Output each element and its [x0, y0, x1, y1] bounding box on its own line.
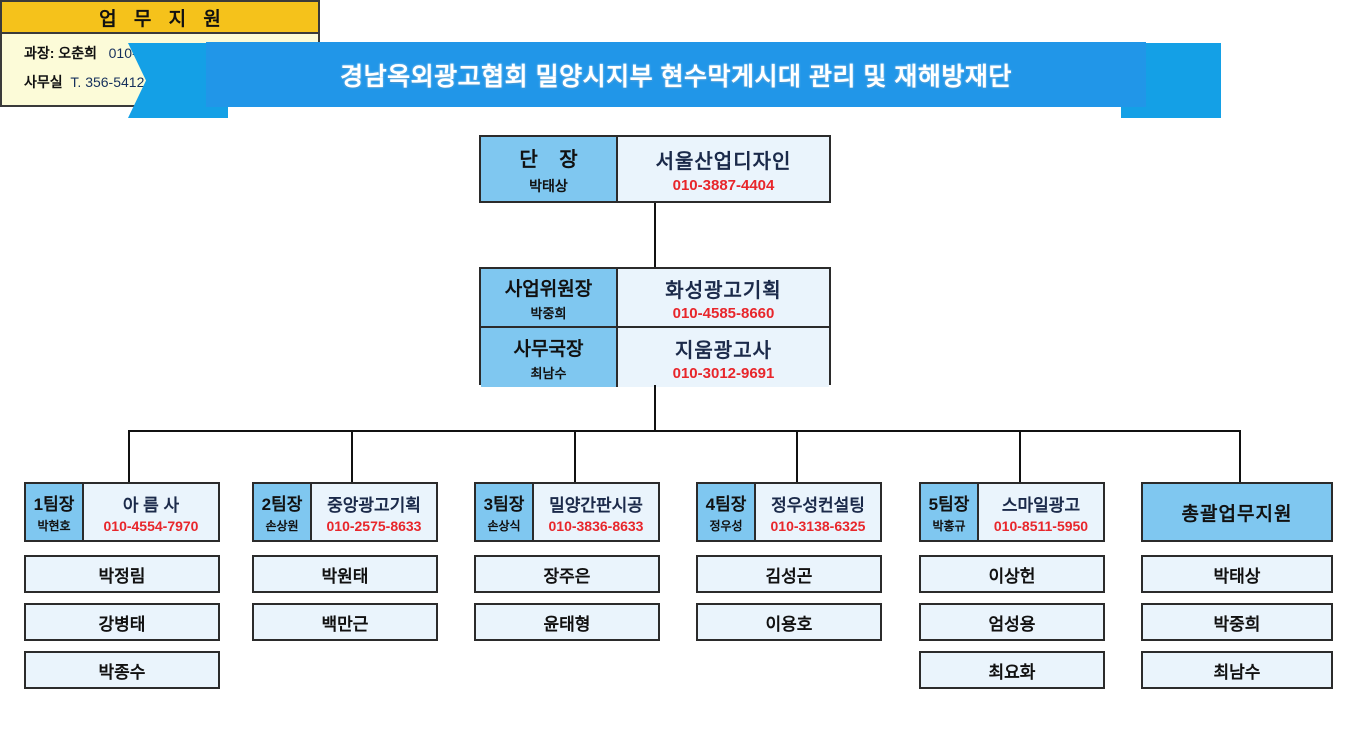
- team-1-member[interactable]: 박종수: [24, 651, 220, 689]
- connector-director-to-committee: [654, 203, 656, 267]
- total-support-member-label: 최남수: [1214, 658, 1261, 683]
- node-team-5[interactable]: 5팀장 박홍규 스마일광고 010-8511-5950: [919, 482, 1105, 542]
- connector-drop-team-5: [1019, 430, 1021, 482]
- team-1-member-label: 강병태: [99, 610, 146, 635]
- team-2-member[interactable]: 백만근: [252, 603, 438, 641]
- director-org-cell: 서울산업디자인 010-3887-4404: [618, 137, 829, 201]
- director-tel: 010-3887-4404: [673, 177, 775, 194]
- team-4-org: 정우성컨설팅: [771, 491, 865, 516]
- node-team-4[interactable]: 4팀장 정우성 정우성컨설팅 010-3138-6325: [696, 482, 882, 542]
- team-3-member-label: 윤태형: [544, 610, 591, 635]
- team-1-member[interactable]: 박정림: [24, 555, 220, 593]
- connector-drop-team-3: [574, 430, 576, 482]
- team-1-member[interactable]: 강병태: [24, 603, 220, 641]
- team-5-tel: 010-8511-5950: [994, 518, 1088, 534]
- director-person: 박태상: [529, 176, 568, 196]
- team-1-role: 1팀장: [34, 490, 75, 515]
- team-2-org-cell: 중앙광고기획 010-2575-8633: [312, 484, 436, 540]
- chair-person: 박중희: [531, 303, 567, 322]
- team-2-member-label: 백만근: [322, 610, 369, 635]
- team-5-role: 5팀장: [929, 490, 970, 515]
- team-3-person: 손상식: [487, 517, 520, 534]
- team-5-member-label: 이상헌: [989, 562, 1036, 587]
- team-5-org-cell: 스마일광고 010-8511-5950: [979, 484, 1103, 540]
- total-support-member[interactable]: 박태상: [1141, 555, 1333, 593]
- team-3-role: 3팀장: [484, 490, 525, 515]
- team-2-role: 2팀장: [262, 490, 303, 515]
- team-3-org: 밀양간판시공: [549, 491, 643, 516]
- support-manager-label: 과장: 오춘희: [24, 45, 97, 61]
- director-role: 단 장: [511, 143, 585, 172]
- team-3-tel: 010-3836-8633: [549, 518, 644, 534]
- team-3-role-cell: 3팀장 손상식: [476, 484, 534, 540]
- chair-tel: 010-4585-8660: [673, 305, 775, 322]
- node-total-support[interactable]: 총괄업무지원: [1141, 482, 1333, 542]
- connector-drop-team-4: [796, 430, 798, 482]
- total-support-member[interactable]: 박중희: [1141, 603, 1333, 641]
- node-team-1[interactable]: 1팀장 박현호 아 름 사 010-4554-7970: [24, 482, 220, 542]
- org-chart-canvas: 경남옥외광고협회 밀양시지부 현수막게시대 관리 및 재해방재단 단 장 박태상…: [0, 0, 1354, 741]
- team-1-person: 박현호: [37, 517, 70, 534]
- connector-drop-team-2: [351, 430, 353, 482]
- chair-org-cell: 화성광고기획 010-4585-8660: [618, 269, 829, 326]
- team-4-member-label: 이용호: [766, 610, 813, 635]
- team-2-role-cell: 2팀장 손상원: [254, 484, 312, 540]
- team-5-member[interactable]: 이상헌: [919, 555, 1105, 593]
- team-2-member-label: 박원태: [322, 562, 369, 587]
- node-director[interactable]: 단 장 박태상 서울산업디자인 010-3887-4404: [479, 135, 831, 203]
- team-3-member[interactable]: 윤태형: [474, 603, 660, 641]
- secretary-org: 지움광고사: [675, 334, 772, 363]
- secretary-person: 최남수: [531, 363, 567, 382]
- team-5-member[interactable]: 최요화: [919, 651, 1105, 689]
- team-3-member[interactable]: 장주은: [474, 555, 660, 593]
- total-support-label: 총괄업무지원: [1182, 499, 1293, 526]
- team-4-member[interactable]: 김성곤: [696, 555, 882, 593]
- total-support-member[interactable]: 최남수: [1141, 651, 1333, 689]
- team-2-tel: 010-2575-8633: [327, 518, 422, 534]
- chair-role-cell: 사업위원장 박중희: [481, 269, 618, 326]
- chair-org: 화성광고기획: [665, 274, 781, 303]
- total-support-member-label: 박중희: [1214, 610, 1261, 635]
- team-2-member[interactable]: 박원태: [252, 555, 438, 593]
- team-3-org-cell: 밀양간판시공 010-3836-8633: [534, 484, 658, 540]
- node-secretary-general[interactable]: 사무국장 최남수 지움광고사 010-3012-9691: [481, 328, 829, 387]
- team-3-member-label: 장주은: [544, 562, 591, 587]
- team-5-member-label: 최요화: [989, 658, 1036, 683]
- team-1-member-label: 박종수: [99, 658, 146, 683]
- node-business-committee-chair[interactable]: 사업위원장 박중희 화성광고기획 010-4585-8660: [481, 269, 829, 328]
- team-4-member[interactable]: 이용호: [696, 603, 882, 641]
- total-support-member-label: 박태상: [1214, 562, 1261, 587]
- team-5-role-cell: 5팀장 박홍규: [921, 484, 979, 540]
- page-title: 경남옥외광고협회 밀양시지부 현수막게시대 관리 및 재해방재단: [340, 57, 1012, 93]
- team-2-org: 중앙광고기획: [327, 491, 421, 516]
- title-banner-main: 경남옥외광고협회 밀양시지부 현수막게시대 관리 및 재해방재단: [206, 42, 1146, 107]
- team-4-person: 정우성: [709, 517, 742, 534]
- node-committee-group[interactable]: 사업위원장 박중희 화성광고기획 010-4585-8660 사무국장 최남수 …: [479, 267, 831, 385]
- secretary-role: 사무국장: [514, 334, 584, 361]
- team-4-tel: 010-3138-6325: [771, 518, 866, 534]
- support-heading: 업 무 지 원: [2, 2, 318, 34]
- team-4-role-cell: 4팀장 정우성: [698, 484, 756, 540]
- secretary-tel: 010-3012-9691: [673, 365, 775, 382]
- title-banner: 경남옥외광고협회 밀양시지부 현수막게시대 관리 및 재해방재단: [128, 43, 1221, 118]
- node-team-2[interactable]: 2팀장 손상원 중앙광고기획 010-2575-8633: [252, 482, 438, 542]
- support-office-label: 사무실: [24, 74, 63, 90]
- secretary-org-cell: 지움광고사 010-3012-9691: [618, 328, 829, 387]
- team-5-person: 박홍규: [932, 517, 965, 534]
- director-org: 서울산업디자인: [656, 145, 792, 174]
- connector-drop-team-1: [128, 430, 130, 482]
- connector-committee-to-bus: [654, 385, 656, 431]
- team-5-member[interactable]: 엄성용: [919, 603, 1105, 641]
- team-4-org-cell: 정우성컨설팅 010-3138-6325: [756, 484, 880, 540]
- team-5-org: 스마일광고: [1002, 491, 1080, 516]
- secretary-role-cell: 사무국장 최남수: [481, 328, 618, 387]
- chair-role: 사업위원장: [505, 274, 592, 301]
- team-1-tel: 010-4554-7970: [104, 518, 199, 534]
- connector-drop-total-support: [1239, 430, 1241, 482]
- team-1-org-cell: 아 름 사 010-4554-7970: [84, 484, 218, 540]
- team-1-member-label: 박정림: [99, 562, 146, 587]
- node-team-3[interactable]: 3팀장 손상식 밀양간판시공 010-3836-8633: [474, 482, 660, 542]
- team-2-person: 손상원: [265, 517, 298, 534]
- team-1-role-cell: 1팀장 박현호: [26, 484, 84, 540]
- team-1-org: 아 름 사: [123, 491, 179, 516]
- director-role-cell: 단 장 박태상: [481, 137, 618, 201]
- team-5-member-label: 엄성용: [989, 610, 1036, 635]
- connector-horizontal-bus: [128, 430, 1241, 432]
- team-4-member-label: 김성곤: [766, 562, 813, 587]
- team-4-role: 4팀장: [706, 490, 747, 515]
